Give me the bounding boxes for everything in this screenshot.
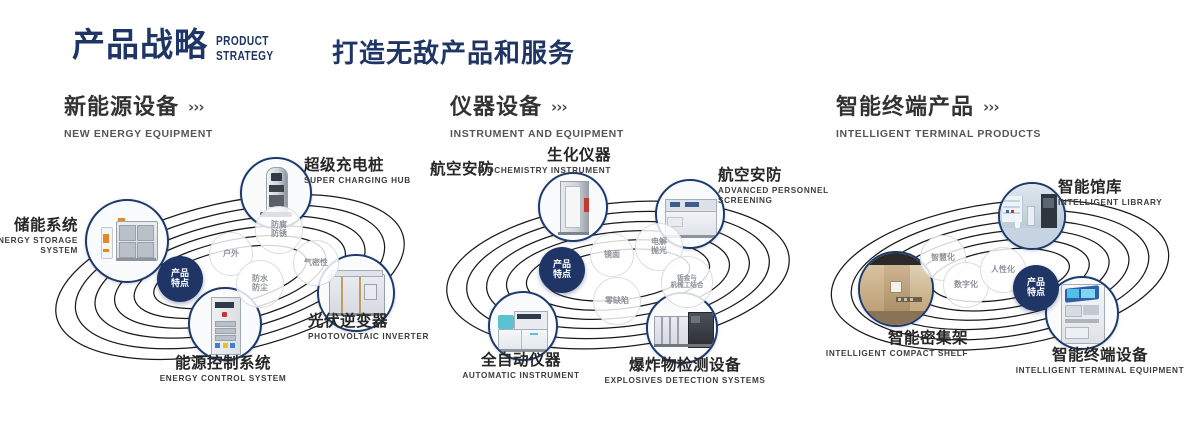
- chevron-right-icon: ›››: [983, 100, 999, 115]
- feature-bubble-sheet-metal-machining: 钣金与机械工结合: [661, 256, 713, 308]
- section-title-new-energy: 新能源设备››› NEW ENERGY EQUIPMENT: [64, 97, 213, 140]
- feature-bubble-anticorrosion: 防腐防锈: [255, 206, 303, 254]
- core-badge-product-features: 产品特点: [157, 256, 203, 302]
- section-title-instrument: 仪器设备››› INSTRUMENT AND EQUIPMENT: [450, 97, 624, 140]
- section-title-cn: 智能终端产品: [836, 95, 974, 120]
- node-label-intelligent-compact-shelf: 智能密集架 INTELLIGENT COMPACT SHELF: [768, 330, 968, 359]
- section-title-cn: 新能源设备: [64, 95, 179, 120]
- section-title-intelligent-terminal: 智能终端产品››› INTELLIGENT TERMINAL PRODUCTS: [836, 97, 1041, 140]
- intelligent-library-artwork: [1000, 184, 1064, 248]
- energy-storage-system-artwork: [87, 201, 167, 281]
- diagram-cluster-instrument: 航空安防 生化仪器 BIOCHEMISTRY INSTRUMENT 航空安防 A…: [418, 155, 818, 400]
- core-badge-product-features: 产品特点: [539, 247, 585, 293]
- poster-header: 产品战略 PRODUCT STRATEGY 打造无敌产品和服务: [0, 0, 1200, 88]
- node-label-energy-storage-system: 储能系统 ENERGY STORAGE SYSTEM: [0, 217, 78, 257]
- node-label-energy-control-system: 能源控制系统 ENERGY CONTROL SYSTEM: [128, 355, 318, 384]
- chevron-right-icon: ›››: [188, 100, 204, 115]
- feature-bubble-zero-defect: 零缺陷: [593, 277, 641, 325]
- node-label-super-charging-hub: 超级充电桩 SUPER CHARGING HUB: [304, 157, 434, 186]
- diagram-cluster-intelligent-terminal: 智能馆库 INTELLIGENT LIBRARY 智能密集架 INTELLIGE…: [810, 155, 1200, 400]
- node-circle-intelligent-library[interactable]: [998, 182, 1066, 250]
- feature-bubble-waterproof-dustproof: 防水防尘: [236, 260, 284, 308]
- node-label-biochemistry-instrument: 生化仪器 BIOCHEMISTRY INSTRUMENT: [431, 147, 611, 176]
- page-title: 产品战略: [72, 28, 208, 61]
- node-label-explosives-detection-systems: 爆炸物检测设备 EXPLOSIVES DETECTION SYSTEMS: [585, 357, 785, 386]
- poster-canvas: 产品战略 PRODUCT STRATEGY 打造无敌产品和服务 新能源设备›››…: [0, 0, 1200, 422]
- section-title-en: INTELLIGENT TERMINAL PRODUCTS: [836, 128, 1041, 140]
- page-subtitle: 打造无敌产品和服务: [332, 33, 575, 70]
- section-title-en: INSTRUMENT AND EQUIPMENT: [450, 128, 624, 140]
- biochemistry-instrument-artwork: [540, 174, 606, 240]
- feature-bubble-airtightness: 气密性: [293, 240, 339, 286]
- page-title-english: PRODUCT STRATEGY: [216, 34, 274, 63]
- page-title-english-line1: PRODUCT: [216, 34, 274, 49]
- section-title-cn: 仪器设备: [450, 95, 542, 120]
- chevron-right-icon: ›››: [551, 100, 567, 115]
- section-title-en: NEW ENERGY EQUIPMENT: [64, 128, 213, 140]
- node-circle-biochemistry-instrument[interactable]: [538, 172, 608, 242]
- feature-bubble-mirror-finish: 镜面: [590, 233, 634, 277]
- node-circle-energy-storage-system[interactable]: [85, 199, 169, 283]
- node-label-intelligent-library: 智能馆库 INTELLIGENT LIBRARY: [1058, 179, 1200, 208]
- node-label-intelligent-terminal-equipment: 智能终端设备 INTELLIGENT TERMINAL EQUIPMENT: [1000, 347, 1200, 376]
- diagram-cluster-new-energy: 储能系统 ENERGY STORAGE SYSTEM 超级充电桩 SUPER C…: [40, 155, 440, 400]
- core-badge-product-features: 产品特点: [1013, 265, 1059, 311]
- automatic-instrument-artwork: [490, 293, 556, 359]
- page-title-english-line2: STRATEGY: [216, 49, 274, 64]
